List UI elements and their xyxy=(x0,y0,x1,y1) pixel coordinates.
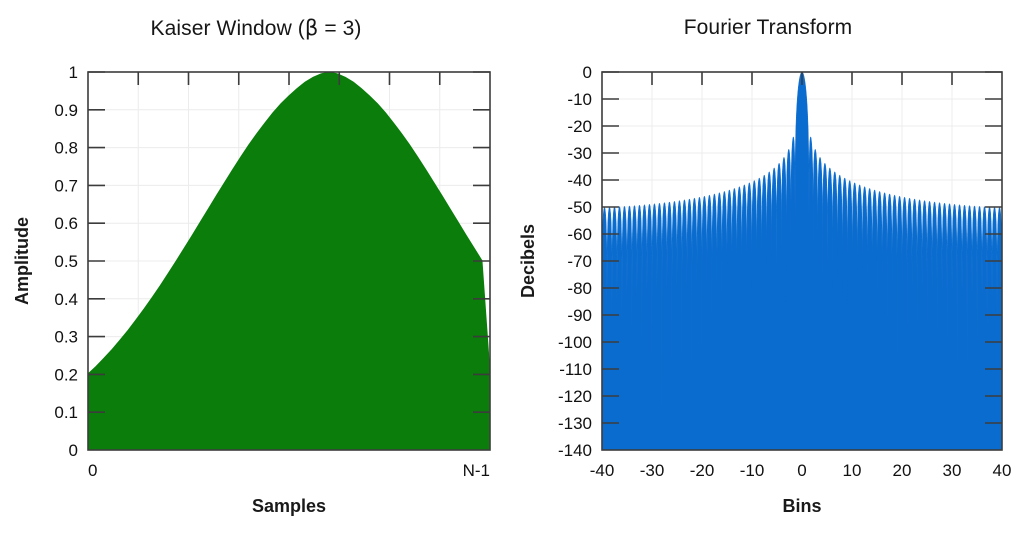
panel-kaiser-window: Kaiser Window (β = 3) 00.10.20.30.40.50.… xyxy=(0,0,512,552)
y-tick-label: -80 xyxy=(567,279,592,298)
kaiser-window-plot: 00.10.20.30.40.50.60.70.80.910N-1Samples… xyxy=(0,0,512,552)
y-tick-label: -100 xyxy=(558,333,592,352)
y-tick-label: 0.7 xyxy=(54,176,78,195)
y-tick-label: -70 xyxy=(567,252,592,271)
x-tick-label: N-1 xyxy=(463,461,490,480)
y-tick-label: -30 xyxy=(567,144,592,163)
y-tick-label: 0 xyxy=(583,63,592,82)
y-tick-label: -120 xyxy=(558,387,592,406)
y-tick-label: -60 xyxy=(567,225,592,244)
y-tick-label: -140 xyxy=(558,441,592,460)
y-tick-label: 0.9 xyxy=(54,101,78,120)
y-tick-label: 0.4 xyxy=(54,290,78,309)
y-tick-label: 0.1 xyxy=(54,403,78,422)
x-tick-label: -40 xyxy=(590,461,615,480)
y-tick-label: -20 xyxy=(567,117,592,136)
y-tick-label: -130 xyxy=(558,414,592,433)
y-tick-label: -10 xyxy=(567,90,592,109)
y-axis-title: Amplitude xyxy=(12,217,32,305)
y-tick-label: 0 xyxy=(69,441,78,460)
y-tick-label: -50 xyxy=(567,198,592,217)
x-axis-title: Bins xyxy=(782,496,821,516)
y-tick-label: 0.8 xyxy=(54,139,78,158)
y-tick-label: 0.6 xyxy=(54,214,78,233)
y-tick-label: -90 xyxy=(567,306,592,325)
x-tick-label: 30 xyxy=(943,461,962,480)
x-tick-label: 40 xyxy=(993,461,1012,480)
y-tick-label: -40 xyxy=(567,171,592,190)
x-tick-label: 0 xyxy=(797,461,806,480)
fourier-spectrum-area xyxy=(602,72,1002,450)
y-tick-label: -110 xyxy=(559,360,592,379)
x-axis-title: Samples xyxy=(252,496,326,516)
x-tick-label: 20 xyxy=(893,461,912,480)
y-tick-label: 1 xyxy=(69,63,78,82)
x-tick-label: -30 xyxy=(640,461,665,480)
fourier-transform-plot: 0-10-20-30-40-50-60-70-80-90-100-110-120… xyxy=(512,0,1024,552)
x-tick-label: -20 xyxy=(690,461,715,480)
figure-root: Kaiser Window (β = 3) 00.10.20.30.40.50.… xyxy=(0,0,1024,552)
y-axis-title: Decibels xyxy=(518,224,538,298)
y-tick-label: 0.5 xyxy=(54,252,78,271)
panel-fourier-transform: Fourier Transform 0-10-20-30-40-50-60-70… xyxy=(512,0,1024,552)
y-tick-label: 0.2 xyxy=(54,365,78,384)
x-tick-label: -10 xyxy=(740,461,765,480)
x-tick-label: 10 xyxy=(843,461,862,480)
x-tick-label: 0 xyxy=(88,461,97,480)
y-tick-label: 0.3 xyxy=(54,328,78,347)
